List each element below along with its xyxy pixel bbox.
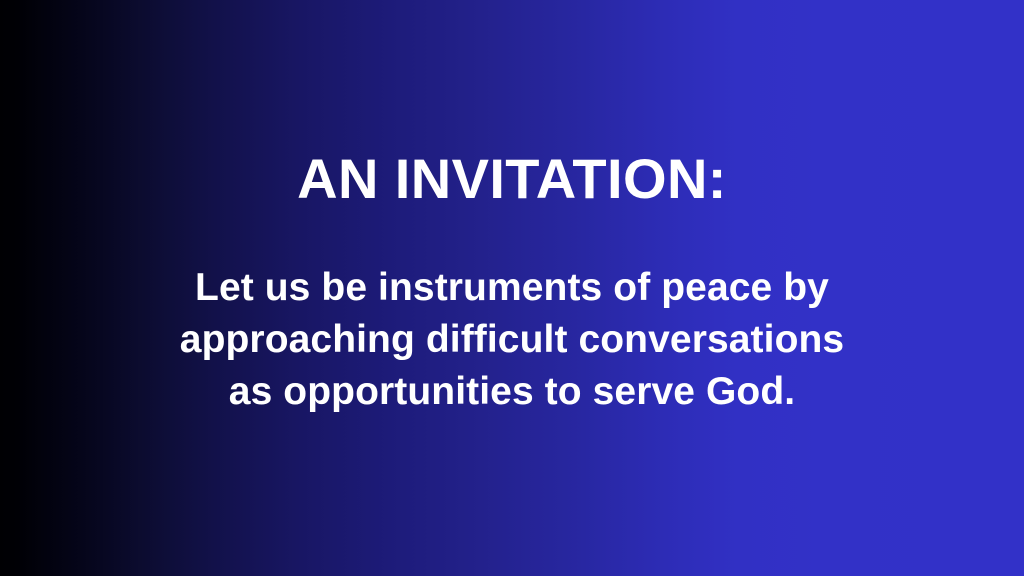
presentation-slide: AN INVITATION: Let us be instruments of … [0,0,1024,576]
body-line-1: Let us be instruments of peace by [0,262,1024,314]
slide-title-block: AN INVITATION: [0,147,1024,211]
slide-title: AN INVITATION: [0,147,1024,211]
slide-body-block: Let us be instruments of peace by approa… [0,262,1024,418]
body-line-3: as opportunities to serve God. [0,366,1024,418]
body-line-2: approaching difficult conversations [0,314,1024,366]
